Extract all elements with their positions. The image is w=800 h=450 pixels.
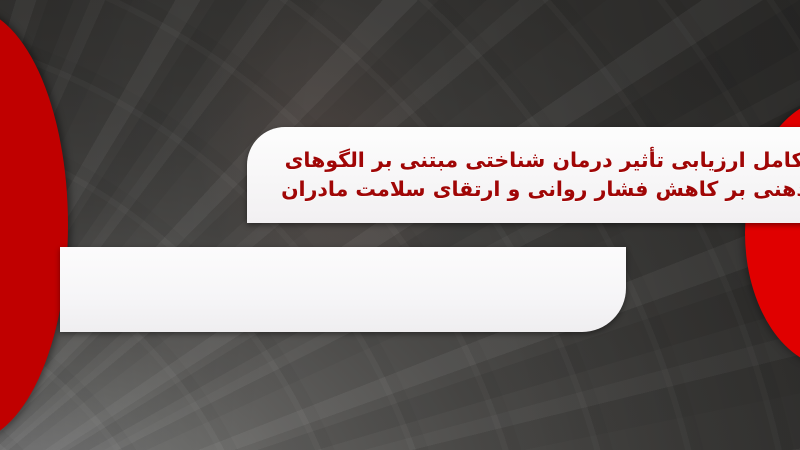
content-body-text xyxy=(60,247,626,332)
presentation-slide: کامل ارزیابی تأثیر درمان شناختی مبتنی بر… xyxy=(0,0,800,450)
content-panel xyxy=(60,247,626,332)
title-line-2: ذهنی بر کاهش فشار روانی و ارتقای سلامت م… xyxy=(281,175,800,204)
title-line-1: کامل ارزیابی تأثیر درمان شناختی مبتنی بر… xyxy=(285,146,800,175)
title-panel: کامل ارزیابی تأثیر درمان شناختی مبتنی بر… xyxy=(247,127,800,223)
background-vignette xyxy=(0,0,800,450)
slide-title: کامل ارزیابی تأثیر درمان شناختی مبتنی بر… xyxy=(247,127,800,223)
